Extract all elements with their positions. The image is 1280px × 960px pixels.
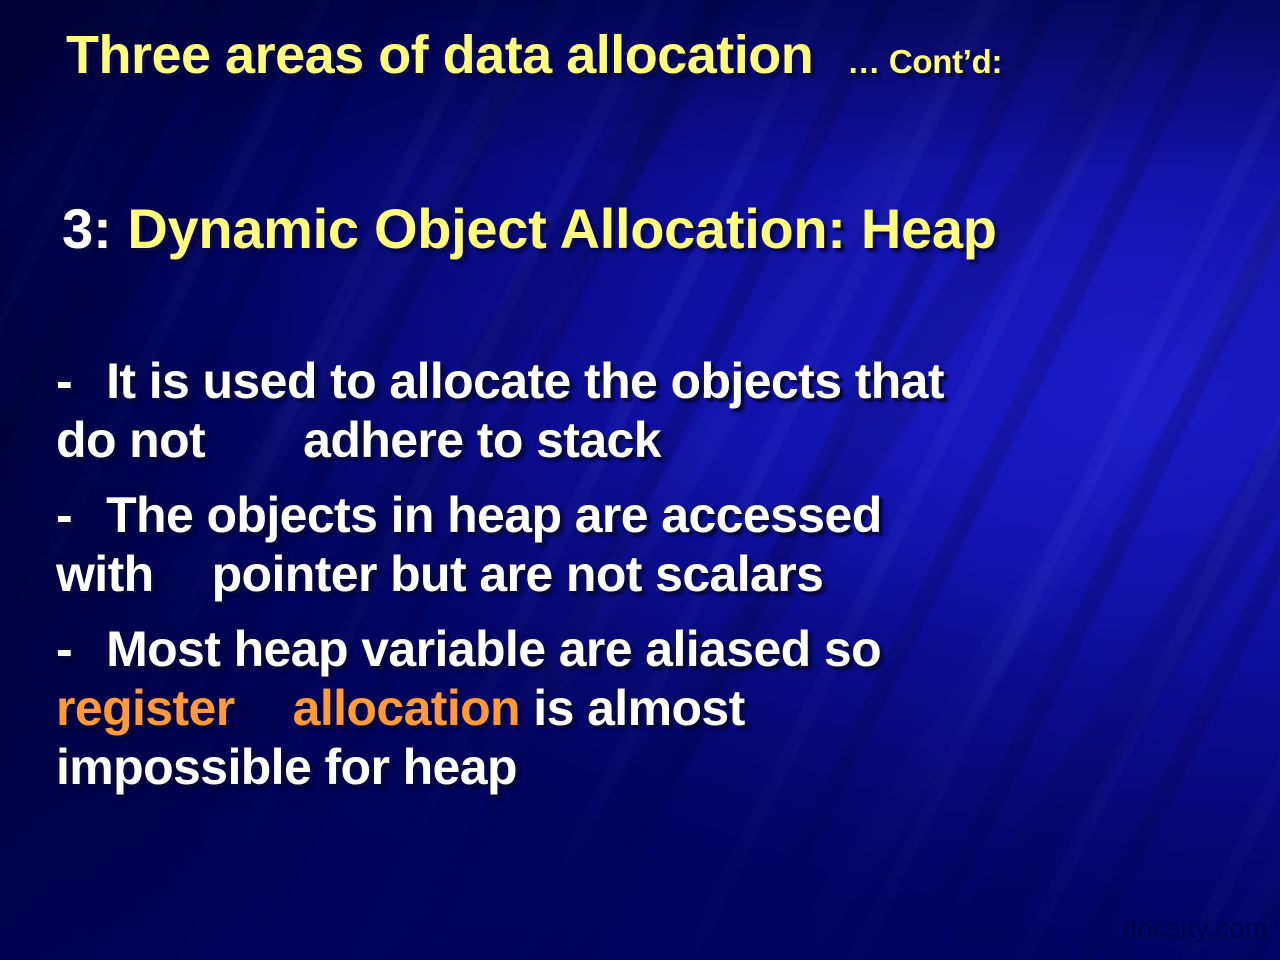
bullet-keyword-allocation: allocation <box>293 680 520 736</box>
slide-title-continuation: … Cont’d: <box>847 43 1002 81</box>
bullet-item-3: -Most heap variable are aliased soregist… <box>56 620 1256 797</box>
slide-title-main: Three areas of data allocation <box>66 24 813 86</box>
bullet-line-2a: with <box>56 546 154 602</box>
bullet-marker: - <box>56 353 72 409</box>
bullet-keyword-register: register <box>56 680 235 736</box>
presentation-slide: Three areas of data allocation … Cont’d:… <box>0 0 1280 960</box>
bullet-line-2b: adhere to stack <box>303 412 661 468</box>
bullet-line-1: Most heap variable are aliased so <box>106 621 881 677</box>
bullet-list: -It is used to allocate the objects that… <box>56 352 1256 801</box>
bullet-line-3: impossible for heap <box>56 739 517 795</box>
slide-title: Three areas of data allocation … Cont’d: <box>66 24 1002 86</box>
bullet-marker: - <box>56 487 72 543</box>
watermark: docsity.com <box>1122 913 1268 944</box>
section-heading-text: Dynamic Object Allocation: Heap <box>127 197 996 260</box>
bullet-line-1: The objects in heap are accessed <box>106 487 882 543</box>
bullet-marker: - <box>56 621 72 677</box>
bullet-line-2a: do not <box>56 412 205 468</box>
section-heading-number: 3: <box>62 197 112 260</box>
section-heading: 3: Dynamic Object Allocation: Heap <box>62 196 997 261</box>
bullet-item-1: -It is used to allocate the objects that… <box>56 352 1256 470</box>
bullet-line-2b: pointer but are not scalars <box>212 546 824 602</box>
slide-content: Three areas of data allocation … Cont’d:… <box>0 0 1280 960</box>
bullet-line-2c: is almost <box>520 680 745 736</box>
bullet-item-2: -The objects in heap are accessedwithpoi… <box>56 486 1256 604</box>
bullet-line-1: It is used to allocate the objects that <box>106 353 944 409</box>
